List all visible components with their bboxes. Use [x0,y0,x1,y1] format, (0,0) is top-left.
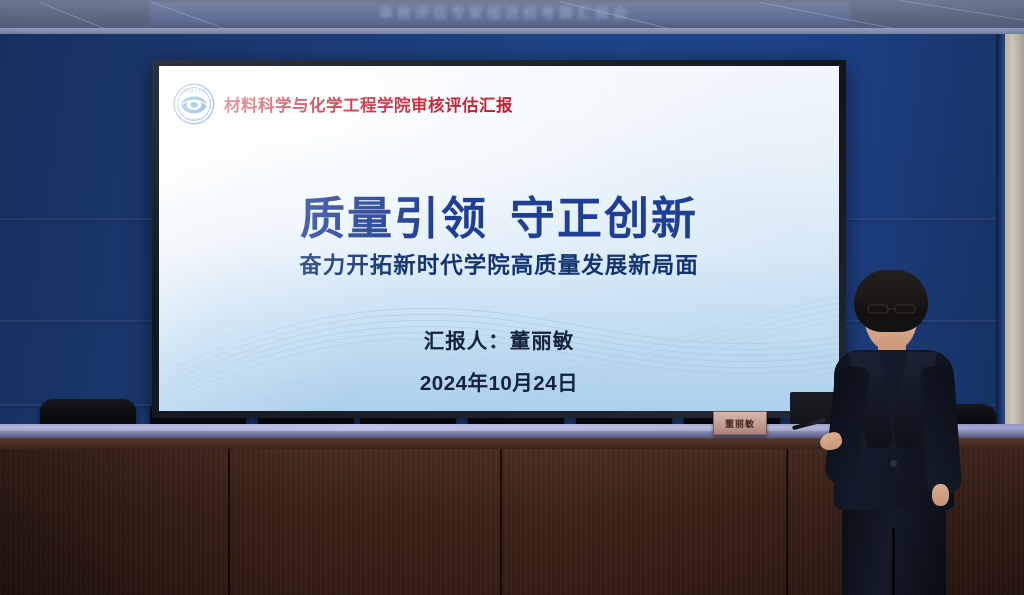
person-hair-fringe [856,276,926,306]
person-hand-right [932,484,949,506]
slide-header-text: 材料科学与化学工程学院审核评估汇报 [224,92,513,116]
presenter-person [806,270,981,595]
chair [40,399,136,427]
presentation-slide: 沈阳化工大学 UNIVERSITY 材料科学与化学工程学院审核评估汇报 质量引领… [159,66,839,411]
projection-screen[interactable]: 沈阳化工大学 UNIVERSITY 材料科学与化学工程学院审核评估汇报 质量引领… [152,60,846,418]
desk-panel-seam [500,449,503,595]
university-emblem-logo: 沈阳化工大学 UNIVERSITY [173,83,215,125]
eyeglasses-icon [867,304,916,314]
person-leg-split [892,528,895,595]
desk-panel-seam [786,449,789,595]
slide-title-part1: 质量引领 [300,193,488,244]
ceiling-banner-text: 审核评估专家组进校考察汇报会 [185,3,825,23]
slide-title: 质量引领守正创新 [159,182,839,247]
presentation-room-photo: 审核评估专家组进校考察汇报会 [0,0,1024,595]
slide-subtitle: 奋力开拓新时代学院高质量发展新局面 [159,248,839,280]
slide-header: 沈阳化工大学 UNIVERSITY 材料科学与化学工程学院审核评估汇报 [173,83,513,125]
slide-presenter: 汇报人：董丽敏 [159,324,839,354]
slide-date: 2024年10月24日 [159,366,839,396]
desk-nameplate: 董丽敏 [713,411,767,435]
slide-title-part2: 守正创新 [510,193,698,244]
svg-text:UNIVERSITY: UNIVERSITY [185,117,203,121]
person-jacket-button [890,460,897,467]
desk-nameplate-text: 董丽敏 [725,417,755,430]
desk-panel-seam [228,449,231,595]
svg-text:沈阳化工大学: 沈阳化工大学 [183,88,206,93]
emblem-icon: 沈阳化工大学 UNIVERSITY [173,83,215,125]
